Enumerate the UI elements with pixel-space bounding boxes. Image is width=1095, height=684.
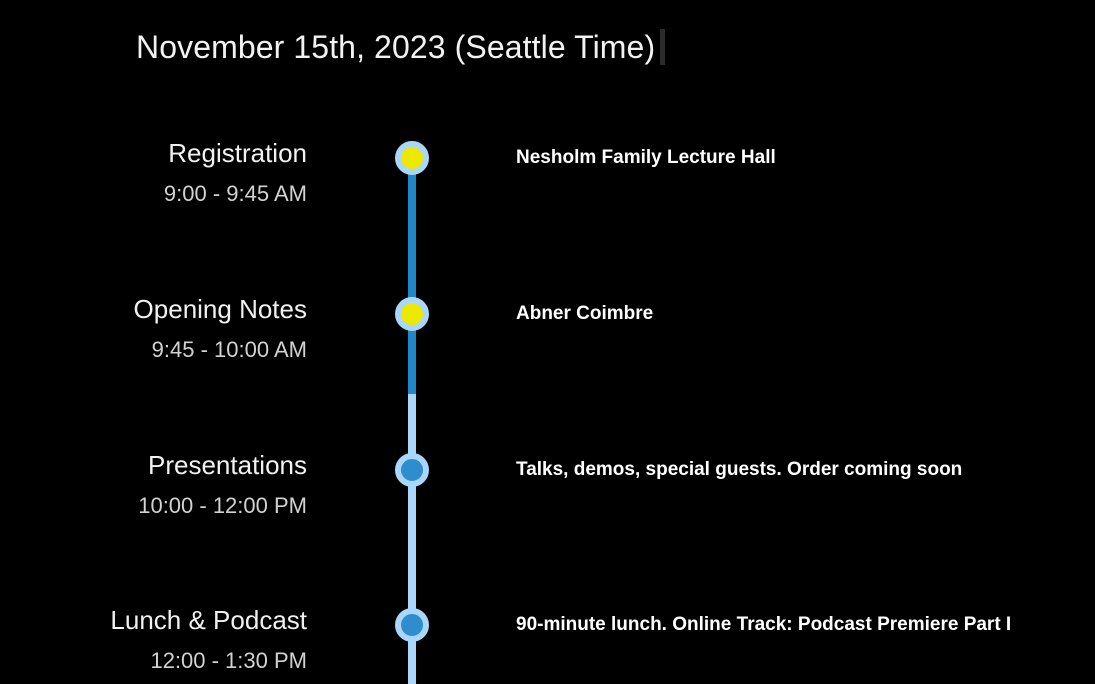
timeline-item-time: 9:45 - 10:00 AM	[0, 336, 307, 364]
timeline-item-description: Abner Coimbre	[516, 302, 653, 326]
timeline-item-left: Registration 9:00 - 9:45 AM	[0, 138, 307, 208]
timeline-item-label: Opening Notes	[0, 294, 307, 324]
timeline-dot[interactable]	[395, 453, 429, 487]
timeline-item-description: Talks, demos, special guests. Order comi…	[516, 458, 962, 482]
timeline-item-label: Lunch & Podcast	[0, 605, 307, 635]
timeline-item-label: Presentations	[0, 450, 307, 480]
timeline-item-label: Registration	[0, 138, 307, 168]
timeline-page: November 15th, 2023 (Seattle Time) Regis…	[0, 0, 1095, 684]
timeline-connector-3	[408, 482, 416, 614]
timeline-dot[interactable]	[395, 297, 429, 331]
schedule-timeline: Registration 9:00 - 9:45 AM Nesholm Fami…	[0, 0, 1095, 684]
timeline-item-left: Opening Notes 9:45 - 10:00 AM	[0, 294, 307, 364]
timeline-connector-4	[408, 638, 416, 684]
timeline-item-time: 12:00 - 1:30 PM	[0, 647, 307, 675]
timeline-connector-1	[408, 170, 416, 302]
timeline-item-time: 10:00 - 12:00 PM	[0, 492, 307, 520]
timeline-item-description: 90-minute lunch. Online Track: Podcast P…	[516, 613, 1011, 637]
timeline-dot[interactable]	[395, 608, 429, 642]
timeline-item-left: Presentations 10:00 - 12:00 PM	[0, 450, 307, 520]
timeline-connector-2a	[408, 326, 416, 394]
timeline-item-time: 9:00 - 9:45 AM	[0, 180, 307, 208]
timeline-connector-2b	[408, 394, 416, 458]
timeline-item-left: Lunch & Podcast 12:00 - 1:30 PM	[0, 605, 307, 675]
timeline-dot[interactable]	[395, 141, 429, 175]
timeline-item-description: Nesholm Family Lecture Hall	[516, 146, 776, 170]
